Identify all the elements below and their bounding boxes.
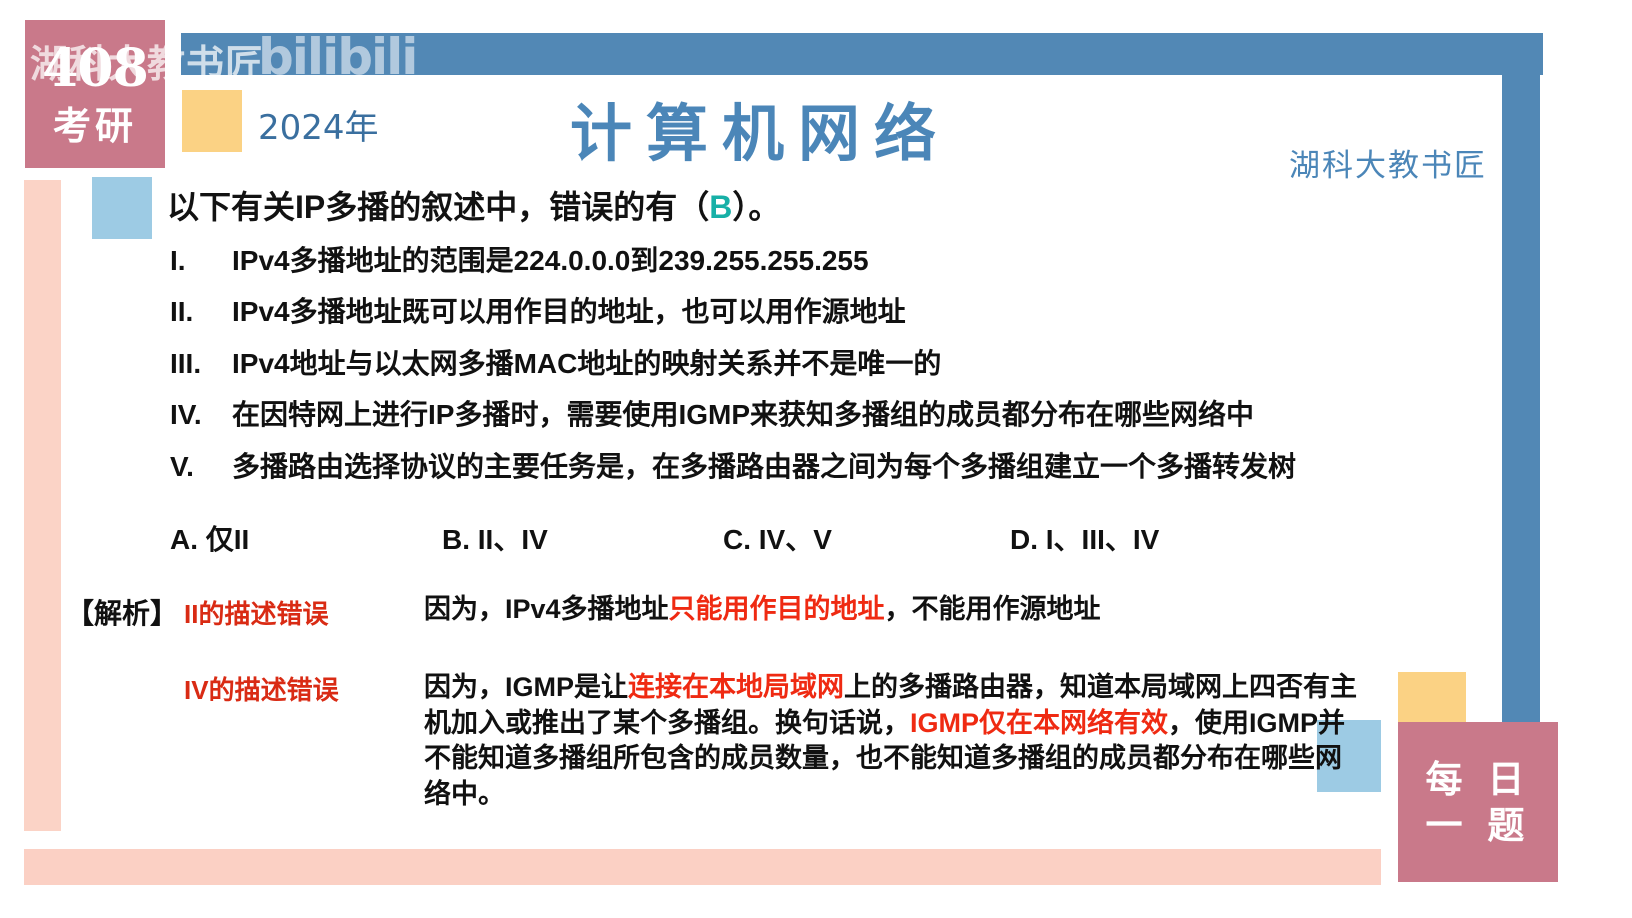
- daily-question-badge: 每 日 一 题: [1398, 722, 1558, 882]
- top-blue-bar: [181, 33, 1543, 75]
- explanation-block: 【解析】II的描述错误因为，IPv4多播地址只能用作目的地址，不能用作源地址【解…: [66, 592, 1366, 813]
- choice-c[interactable]: C. IV、V: [723, 518, 832, 558]
- question-after: ）。: [732, 189, 780, 225]
- year-label: 2024年: [258, 100, 379, 149]
- explanation-row: 【解析】II的描述错误因为，IPv4多播地址只能用作目的地址，不能用作源地址: [66, 592, 1366, 632]
- statement-item: V.多播路由选择协议的主要任务是，在多播路由器之间为每个多播组建立一个多播转发树: [170, 452, 1450, 481]
- question-answer: B: [709, 189, 732, 225]
- statement-text: 多播路由选择协议的主要任务是，在多播路由器之间为每个多播组建立一个多播转发树: [232, 452, 1450, 481]
- explanation-highlight: IGMP仅在本网络有效: [910, 708, 1168, 738]
- pink-square-bottom-right: [1317, 849, 1381, 885]
- daily-badge-line2: 一 题: [1426, 802, 1531, 848]
- statement-item: II.IPv4多播地址既可以用作目的地址，也可以用作源地址: [170, 297, 1450, 326]
- left-pink-strip: [24, 180, 61, 831]
- choice-b[interactable]: B. II、IV: [442, 518, 548, 558]
- yellow-square-top: [182, 90, 242, 152]
- explanation-row: 【解析】IV的描述错误因为，IGMP是让连接在本地局域网上的多播路由器，知道本局…: [66, 670, 1366, 813]
- explanation-body: 因为，IPv4多播地址只能用作目的地址，不能用作源地址: [424, 592, 1366, 628]
- explanation-wrong-tag: IV的描述错误: [184, 670, 424, 707]
- statement-number: I.: [170, 246, 232, 275]
- choice-d[interactable]: D. I、III、IV: [1010, 518, 1159, 558]
- daily-badge-line1: 每 日: [1426, 756, 1531, 802]
- slide-canvas: 408 考研 湖科大教书匠 bilibili 2024年 计算机网络 湖科大教书…: [0, 0, 1632, 918]
- page-title: 计算机网络: [525, 83, 995, 173]
- statement-item: I.IPv4多播地址的范围是224.0.0.0到239.255.255.255: [170, 246, 1450, 275]
- bottom-pink-bar: [24, 849, 1379, 885]
- question-text: 以下有关IP多播的叙述中，错误的有（B）。: [167, 182, 1367, 228]
- explanation-segment: 因为，IGMP是让: [424, 672, 628, 702]
- statement-text: 在因特网上进行IP多播时，需要使用IGMP来获知多播组的成员都分布在哪些网络中: [232, 400, 1450, 429]
- explanation-label: 【解析】: [66, 592, 184, 632]
- statement-number: II.: [170, 297, 232, 326]
- badge-word: 考研: [53, 107, 137, 145]
- right-blue-bar: [1502, 72, 1540, 736]
- statement-number: III.: [170, 349, 232, 378]
- choice-a[interactable]: A. 仅II: [170, 518, 249, 558]
- statement-number: IV.: [170, 400, 232, 429]
- explanation-highlight: 只能用作目的地址: [669, 594, 885, 624]
- question-before: 以下有关IP多播的叙述中，错误的有（: [167, 189, 709, 225]
- explanation-wrong-tag: II的描述错误: [184, 592, 424, 631]
- brand-label: 湖科大教书匠: [1289, 140, 1487, 185]
- statement-item: III.IPv4地址与以太网多播MAC地址的映射关系并不是唯一的: [170, 349, 1450, 378]
- explanation-segment: ，不能用作源地址: [885, 594, 1101, 624]
- statement-text: IPv4多播地址既可以用作目的地址，也可以用作源地址: [232, 297, 1450, 326]
- statement-item: IV.在因特网上进行IP多播时，需要使用IGMP来获知多播组的成员都分布在哪些网…: [170, 400, 1450, 429]
- statement-list: I.IPv4多播地址的范围是224.0.0.0到239.255.255.255I…: [170, 246, 1450, 503]
- statement-text: IPv4地址与以太网多播MAC地址的映射关系并不是唯一的: [232, 349, 1450, 378]
- statement-number: V.: [170, 452, 232, 481]
- explanation-segment: 因为，IPv4多播地址: [424, 594, 669, 624]
- explanation-body: 因为，IGMP是让连接在本地局域网上的多播路由器，知道本局域网上四否有主机加入或…: [424, 670, 1366, 813]
- statement-text: IPv4多播地址的范围是224.0.0.0到239.255.255.255: [232, 246, 1450, 275]
- badge-number: 408: [42, 43, 148, 95]
- badge-408: 408 考研: [25, 20, 165, 168]
- blue-square-question: [92, 177, 152, 239]
- explanation-highlight: 连接在本地局域网: [628, 672, 844, 702]
